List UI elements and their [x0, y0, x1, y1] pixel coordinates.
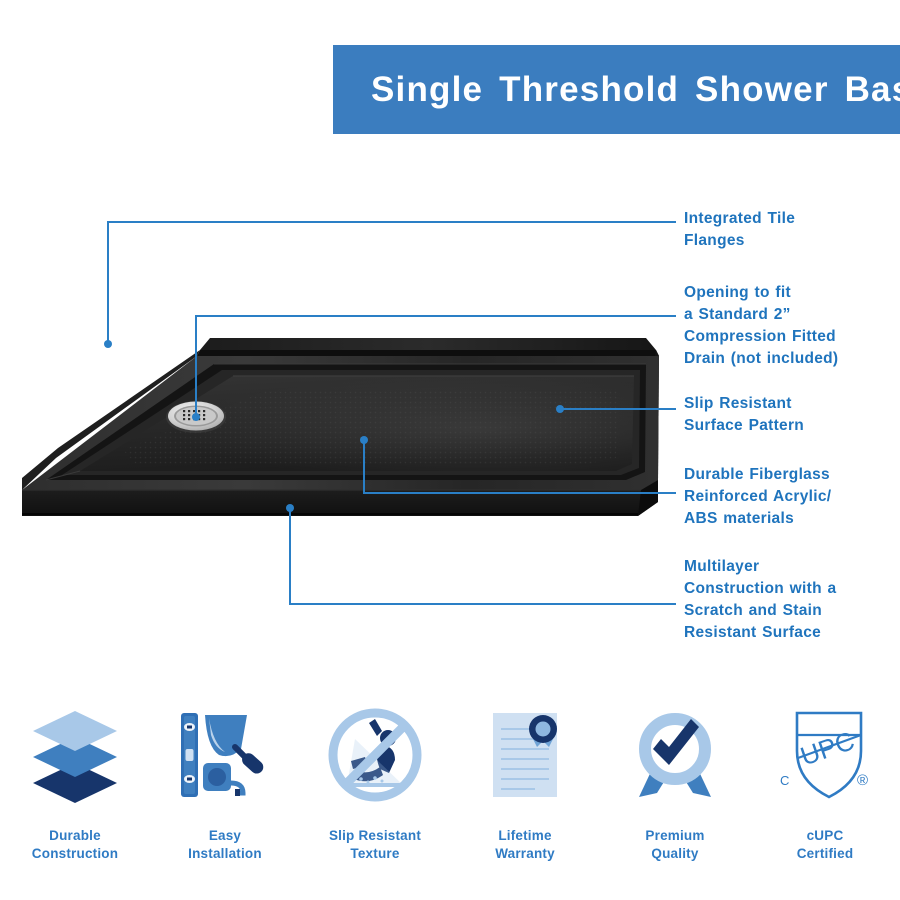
feature-label: Lifetime Warranty	[495, 827, 555, 863]
callout-drain-opening: Opening to fit a Standard 2” Compression…	[684, 282, 838, 370]
callout-integrated-tile-flanges: Integrated Tile Flanges	[684, 208, 795, 252]
leader-dot-multilayer	[286, 504, 294, 512]
certificate-icon	[475, 705, 575, 805]
callout-multilayer-construction: Multilayer Construction with a Scratch a…	[684, 556, 836, 644]
feature-label: cUPC Certified	[797, 827, 854, 863]
feature-cupc-certified: UPC C ® cUPC Certified	[750, 705, 900, 870]
feature-label: Easy Installation	[188, 827, 262, 863]
feature-easy-installation: Easy Installation	[150, 705, 300, 870]
no-slip-icon	[325, 705, 425, 805]
feature-label: Premium Quality	[645, 827, 704, 863]
leader-line-tile-flanges	[108, 222, 676, 344]
feature-label: Slip Resistant Texture	[329, 827, 421, 863]
callout-durable-materials: Durable Fiberglass Reinforced Acrylic/ A…	[684, 464, 831, 530]
callout-slip-resistant-surface: Slip Resistant Surface Pattern	[684, 393, 804, 437]
feature-badges-row: Durable Construction	[0, 705, 900, 870]
feature-label: Durable Construction	[32, 827, 118, 863]
cupc-c-mark: C	[780, 773, 789, 788]
level-trowel-icon	[175, 705, 275, 805]
quality-badge-icon	[625, 705, 725, 805]
leader-line-drain	[196, 316, 676, 417]
infographic-page: Single Threshold Shower Base	[0, 0, 900, 900]
feature-lifetime-warranty: Lifetime Warranty	[450, 705, 600, 870]
cupc-shield-text: UPC	[797, 725, 859, 771]
leader-line-materials	[364, 440, 676, 493]
leader-line-multilayer	[290, 508, 676, 604]
leader-dot-drain	[192, 413, 200, 421]
feature-durable-construction: Durable Construction	[0, 705, 150, 870]
cupc-shield-icon: UPC C ®	[775, 705, 875, 805]
cupc-registered-mark: ®	[857, 772, 868, 789]
leader-dot-tile-flanges	[104, 340, 112, 348]
feature-premium-quality: Premium Quality	[600, 705, 750, 870]
leader-dot-materials	[360, 436, 368, 444]
leader-dot-slip-resistant	[556, 405, 564, 413]
feature-slip-resistant: Slip Resistant Texture	[300, 705, 450, 870]
layers-icon	[25, 705, 125, 805]
